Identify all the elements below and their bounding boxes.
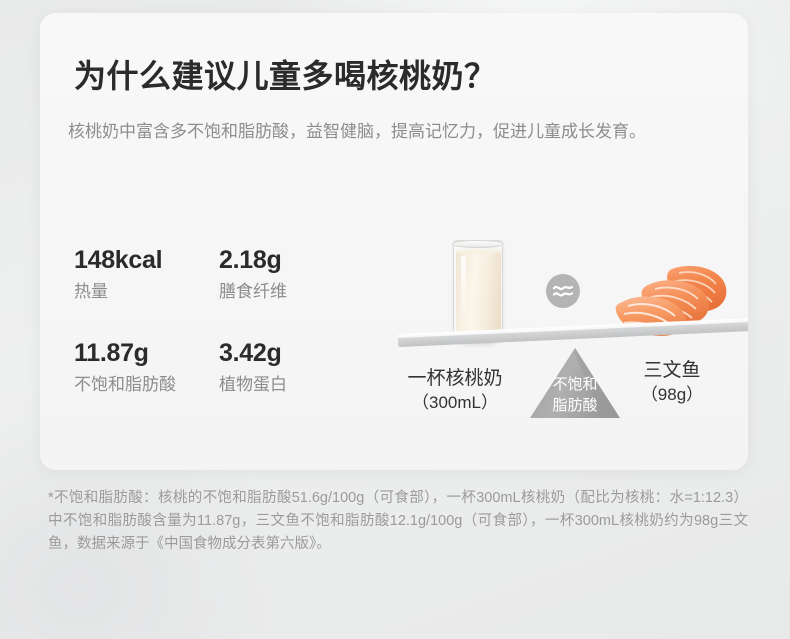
stat-calories: 148kcal 热量 xyxy=(74,245,219,306)
walnut-milk-glass-icon xyxy=(453,240,503,344)
glass-rim xyxy=(452,240,504,248)
stat-row: 148kcal 热量 2.18g 膳食纤维 xyxy=(74,245,364,306)
nutrition-stats: 148kcal 热量 2.18g 膳食纤维 11.87g 不饱和脂肪酸 3.42… xyxy=(74,245,364,399)
right-pan-caption: 三文鱼 （98g） xyxy=(612,358,732,407)
page-title: 为什么建议儿童多喝核桃奶？ xyxy=(74,51,497,97)
stat-value: 3.42g xyxy=(219,338,364,369)
left-caption-main: 一杯核桃奶 xyxy=(380,366,530,391)
right-caption-sub: （98g） xyxy=(612,383,732,407)
milk-surface xyxy=(456,249,501,254)
stat-label: 膳食纤维 xyxy=(219,278,364,306)
stat-value: 2.18g xyxy=(219,245,364,276)
left-pan-caption: 一杯核桃奶 （300mL） xyxy=(380,366,530,415)
stat-unsaturated-fat: 11.87g 不饱和脂肪酸 xyxy=(74,338,219,399)
stat-label: 热量 xyxy=(74,278,219,306)
info-card: 为什么建议儿童多喝核桃奶？ 核桃奶中富含多不饱和脂肪酸，益智健脑，提高记忆力，促… xyxy=(40,13,748,470)
glass-body xyxy=(453,240,503,344)
stat-value: 11.87g xyxy=(74,338,219,369)
balance-beam xyxy=(398,318,748,347)
stat-dietary-fiber: 2.18g 膳食纤维 xyxy=(219,245,364,306)
stat-label: 不饱和脂肪酸 xyxy=(74,371,219,399)
approximately-equal-icon xyxy=(546,274,580,308)
right-caption-main: 三文鱼 xyxy=(612,358,732,383)
left-caption-sub: （300mL） xyxy=(380,391,530,415)
stat-plant-protein: 3.42g 植物蛋白 xyxy=(219,338,364,399)
stat-row: 11.87g 不饱和脂肪酸 3.42g 植物蛋白 xyxy=(74,338,364,399)
footnote-text: *不饱和脂肪酸：核桃的不饱和脂肪酸51.6g/100g（可食部），一杯300mL… xyxy=(48,487,748,556)
page-subtitle: 核桃奶中富含多不饱和脂肪酸，益智健脑，提高记忆力，促进儿童成长发育。 xyxy=(68,116,658,147)
balance-scale-illustration: 不饱和 脂肪酸 一杯核桃奶 （300mL） 三文鱼 （98g） xyxy=(350,208,740,438)
fulcrum-triangle: 不饱和 脂肪酸 xyxy=(530,348,620,420)
stat-label: 植物蛋白 xyxy=(219,371,364,399)
stat-value: 148kcal xyxy=(74,245,219,276)
glass-highlight xyxy=(461,256,466,324)
